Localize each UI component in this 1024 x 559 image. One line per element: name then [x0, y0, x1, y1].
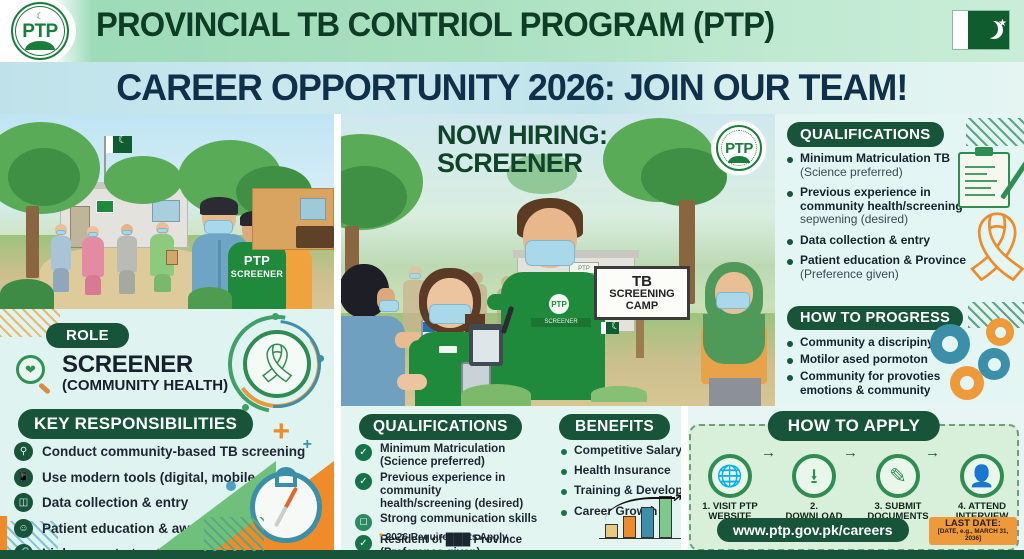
qualifications-note: * 2026 Requirements Apply — [379, 532, 508, 543]
qualifications-list-right: Minimum Matriculation TB (Science prefer… — [787, 152, 977, 288]
sign-line-camp: CAMP — [626, 301, 658, 313]
check-circle-icon: ✓ — [355, 535, 372, 551]
awareness-ribbon-icon: 🎗 — [954, 220, 1010, 298]
shirt-ptp-badge: PTP — [549, 294, 569, 314]
orange-edge-strip — [0, 516, 7, 550]
list-item: ⚲ Conduct community-based TB screening — [14, 442, 314, 461]
list-item: ✓ Minimum Matriculation (Science preferr… — [355, 443, 551, 469]
list-item: Patient education & Province (Preference… — [787, 254, 977, 281]
magnifier-icon: ⚲ — [14, 442, 33, 461]
rqual-bold: Minimum Matriculation TB — [800, 151, 950, 165]
person-speech-icon: ☺ — [14, 519, 33, 538]
arrow-icon: → — [925, 444, 940, 461]
dot-decor — [226, 481, 236, 491]
gears-icon — [928, 318, 1016, 400]
hatch-decor-br — [204, 517, 264, 551]
qual-line1: Previous experience in community — [380, 472, 551, 498]
careers-url-link[interactable]: www.ptp.gov.pk/careers — [717, 518, 909, 542]
page-title: PROVINCIAL TB CONTRIOL PROGRAM (PTP) — [96, 6, 902, 45]
rqual-light: (Science preferred) — [800, 165, 903, 179]
progress-text: Community a discripiny — [800, 336, 934, 349]
left-illustration: PTP SCREENER — [0, 114, 334, 309]
apply-step[interactable]: ✎ 3. SUBMIT DOCUMENTS — [867, 454, 929, 523]
infographic-poster: ☾ PTP PROVINCIAL TB CONTRIOL PROGRAM (PT… — [0, 0, 1024, 559]
left-content-panel: ROLE ❤ SCREENER (COMMUNITY HEALTH) KEY R… — [0, 309, 334, 551]
logo-text: PTP — [22, 22, 57, 41]
right-content-panel: QUALIFICATIONS Minimum Matriculation TB … — [775, 114, 1024, 406]
bullet-dot — [787, 239, 793, 245]
tb-screening-camp-sign: TB SCREENING CAMP — [594, 266, 690, 320]
how-to-apply-card: HOW TO APPLY 🌐 1. VISIT PTP WEBSITE ⭳ 2.… — [689, 424, 1019, 551]
bullet-dot — [561, 489, 567, 495]
asterisk-mark: * — [379, 532, 383, 543]
document-check-icon: ☐ — [355, 514, 372, 531]
role-title: SCREENER — [62, 353, 228, 377]
logo-hill-shape — [25, 41, 55, 50]
hatch-decor-tr — [966, 118, 1024, 146]
qual-line1: Minimum Matriculation — [380, 443, 505, 456]
bullet-dot — [561, 449, 567, 455]
list-item: ✓ Previous experience in community healt… — [355, 472, 551, 511]
check-circle-icon: ✓ — [355, 444, 372, 461]
list-item: ☐ Strong communication skills — [355, 513, 551, 531]
divider-left — [334, 114, 341, 551]
magnifier-heart-icon: ❤ — [16, 355, 54, 393]
qual-line2: health/screening (desired) — [380, 498, 551, 511]
role-row: ❤ SCREENER (COMMUNITY HEALTH) — [16, 353, 228, 395]
qualifications-pill-right: QUALIFICATIONS — [787, 122, 944, 147]
document-pencil-icon: ✎ — [876, 454, 920, 498]
list-item: Competitive Salary — [561, 444, 681, 457]
progress-text: Motilor ased pormoton — [800, 353, 928, 366]
rqual-bold: Patient education & Province — [800, 253, 966, 267]
sign-line-tb: TB — [632, 274, 652, 290]
responsibility-text: Data collection & entry — [42, 495, 188, 510]
rqual-light: (Preference given) — [800, 267, 899, 281]
awareness-ribbon-badge-icon: 🎗 — [228, 315, 326, 413]
bullet-dot — [787, 157, 793, 163]
bullet-dot — [787, 341, 793, 347]
qual-line2: (Science preferred) — [380, 456, 505, 469]
bullet-dot — [787, 259, 793, 265]
globe-icon: 🌐 — [708, 454, 752, 498]
arrow-icon: → — [843, 444, 858, 461]
benefit-text: Health Insurance — [574, 464, 671, 477]
bullet-dot — [787, 375, 793, 381]
plus-decor-blue: + — [303, 437, 312, 453]
qual-line1: Strong communication skills — [380, 513, 537, 526]
center-illustration: PTP — [341, 114, 775, 406]
divider-mid — [681, 406, 688, 551]
shirt-label-ptp: PTP — [234, 254, 280, 268]
plus-decor-orange: + — [272, 417, 290, 447]
form-icon: ◫ — [14, 493, 33, 512]
benefits-pill: BENEFITS — [559, 414, 670, 440]
bullet-dot — [561, 469, 567, 475]
role-pill: ROLE — [46, 323, 129, 348]
responsibility-text: Conduct community-based TB screening — [42, 444, 305, 459]
bullet-dot — [787, 191, 793, 197]
bullet-dot — [561, 510, 567, 516]
mid-content-panel: QUALIFICATIONS BENEFITS ✓ Minimum Matric… — [341, 406, 681, 551]
apply-step[interactable]: 🌐 1. VISIT PTP WEBSITE — [699, 454, 761, 523]
pakistan-flag-icon: ★ — [952, 10, 1010, 50]
banner-title: CAREER OPPORTUNITY 2026: JOIN OUR TEAM! — [116, 67, 907, 109]
now-hiring-line1: NOW HIRING: — [437, 122, 687, 150]
note-text: 2026 Requirements Apply — [386, 532, 508, 543]
last-date-badge: LAST DATE: [DATE, e.g., MARCH 31, 2036] — [929, 517, 1017, 545]
clipboard-pencil-icon — [958, 152, 1010, 208]
download-document-icon: ⭳ — [792, 454, 836, 498]
shirt-label-screener: SCREENER — [230, 270, 284, 279]
ptp-seal-icon: PTP — [711, 120, 767, 176]
last-date-value: [DATE, e.g., MARCH 31, 2036] — [932, 529, 1014, 543]
how-to-apply-pill: HOW TO APPLY — [768, 411, 940, 441]
now-hiring-line2: SCREENER — [437, 150, 687, 178]
arrow-icon: → — [761, 444, 776, 461]
rqual-light: sepwening (desired) — [800, 212, 908, 226]
header-bar: ☾ PTP PROVINCIAL TB CONTRIOL PROGRAM (PT… — [0, 0, 1024, 62]
key-responsibilities-pill: KEY RESPONSIBILITIES — [18, 409, 253, 439]
list-item: Previous experience in community health/… — [787, 186, 977, 227]
list-item: Minimum Matriculation TB (Science prefer… — [787, 152, 977, 179]
benefit-text: Competitive Salary — [574, 444, 681, 457]
list-item: Data collection & entry — [787, 234, 977, 248]
bullet-dot — [787, 358, 793, 364]
now-hiring-headline: NOW HIRING: SCREENER — [437, 122, 687, 177]
banner-bar: CAREER OPPORTUNITY 2026: JOIN OUR TEAM! — [0, 62, 1024, 114]
rqual-bold: Previous experience in community health/… — [800, 185, 963, 213]
apply-step[interactable]: 👤 4. ATTEND INTERVIEW — [951, 454, 1013, 523]
rqual-bold: Data collection & entry — [800, 233, 930, 247]
mobile-document-icon: 📱 — [14, 468, 33, 487]
footer-bar — [0, 550, 1024, 559]
check-circle-icon: ✓ — [355, 473, 372, 490]
list-item: Health Insurance — [561, 464, 681, 477]
growth-bar-chart-icon: ➔ — [599, 493, 681, 541]
role-subtitle: (COMMUNITY HEALTH) — [62, 378, 228, 395]
ptp-logo: ☾ PTP — [4, 0, 76, 64]
qualifications-pill-mid: QUALIFICATIONS — [359, 414, 522, 440]
seal-text: PTP — [725, 140, 753, 157]
person-tie-icon: 👤 — [960, 454, 1004, 498]
